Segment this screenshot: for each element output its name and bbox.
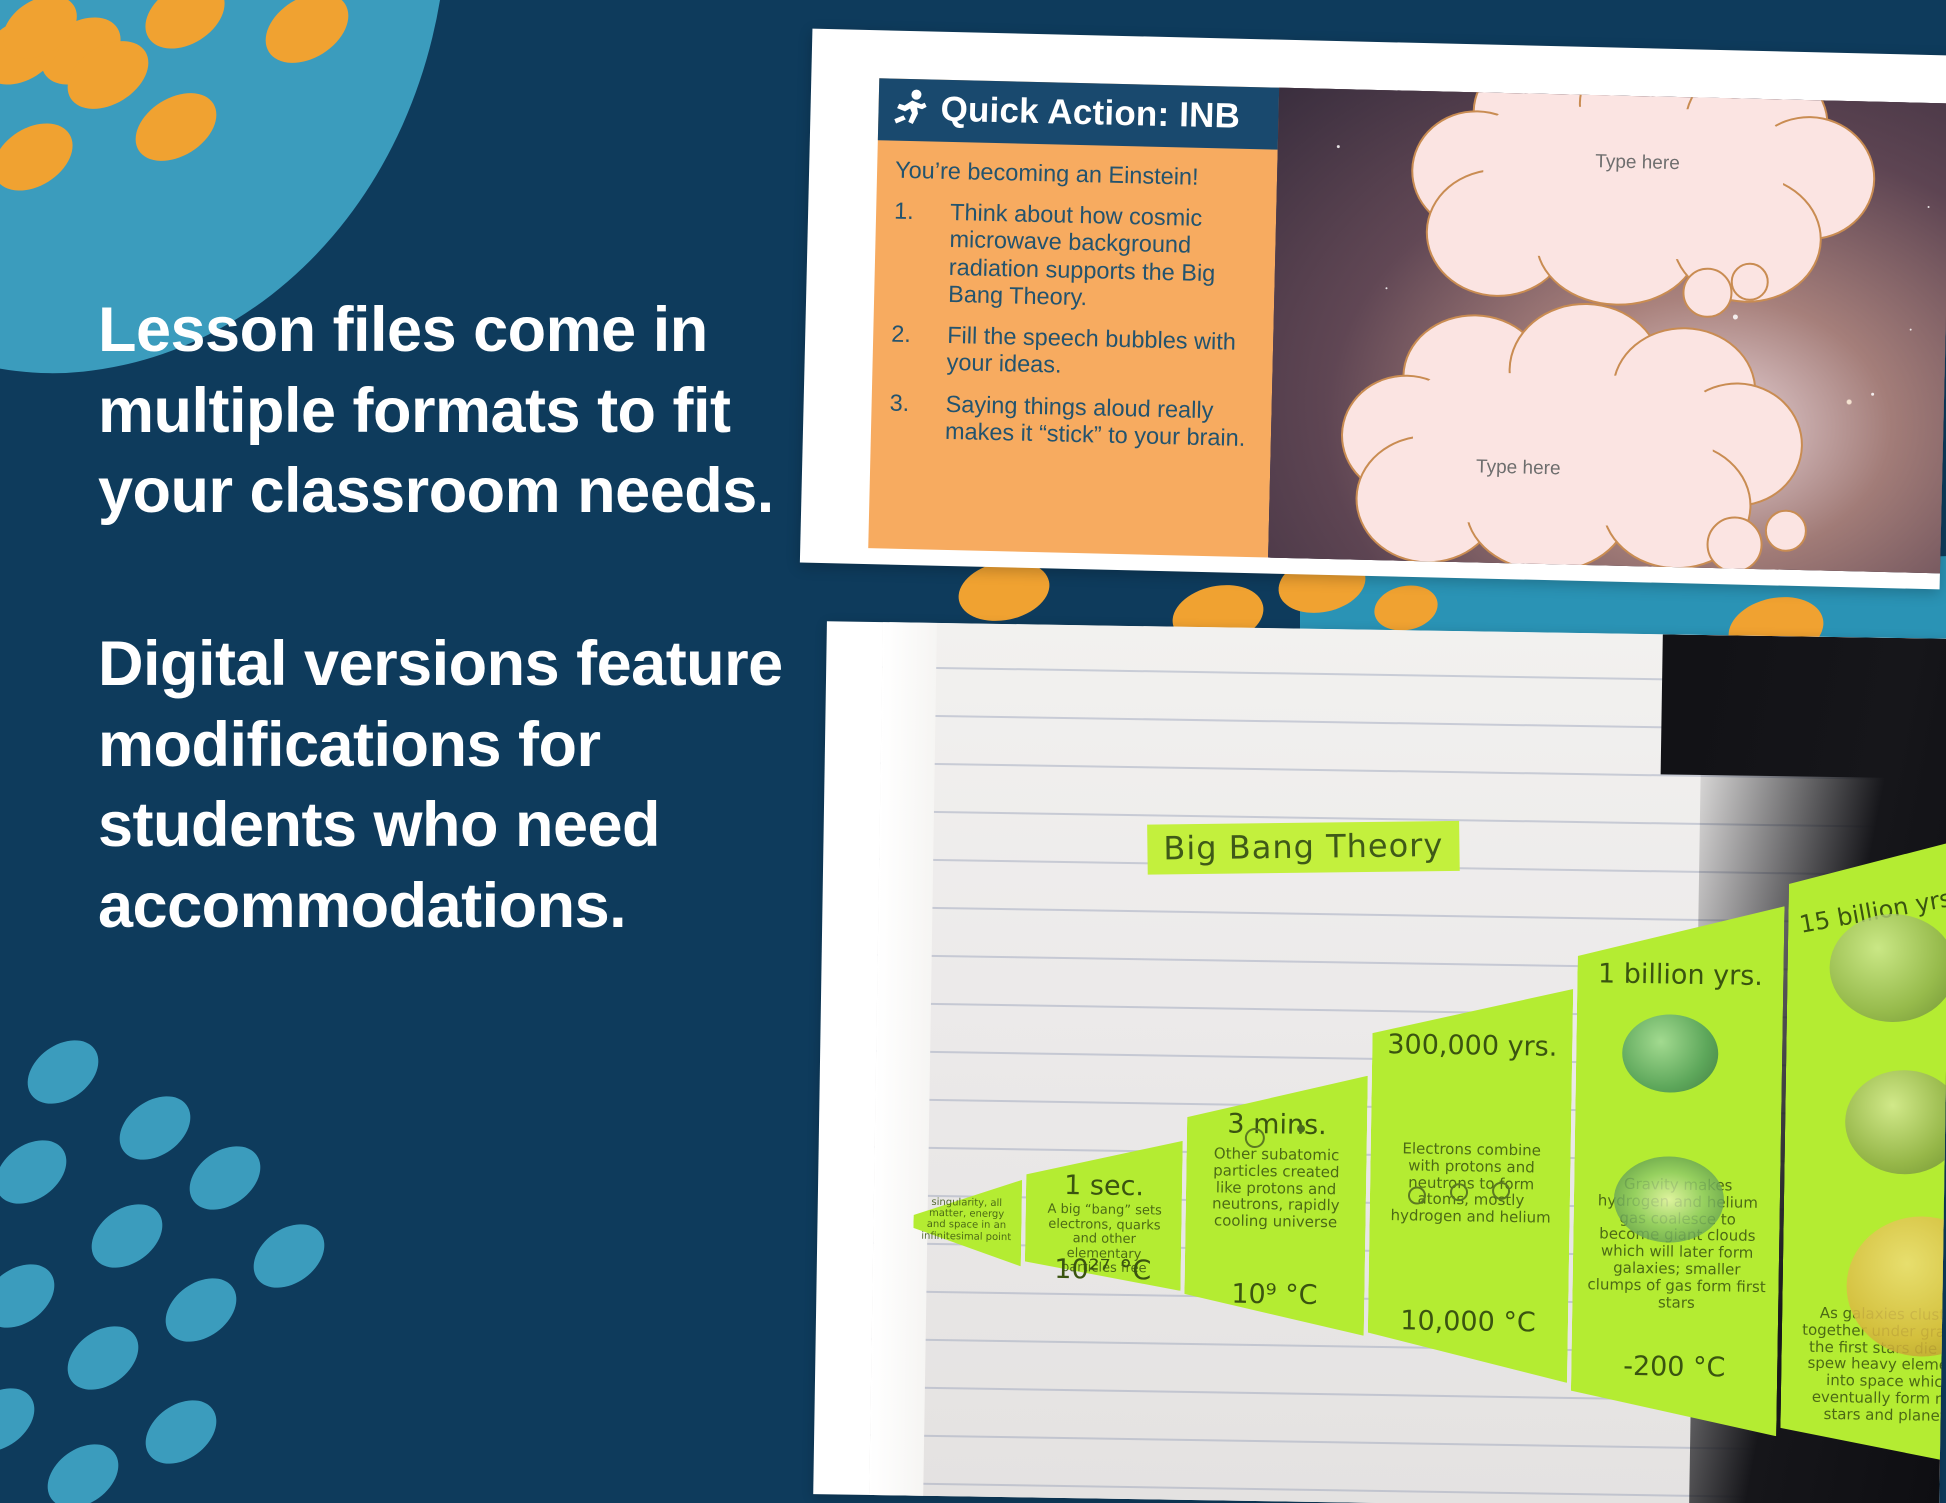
quick-action-body: You’re becoming an Einstein! 1. Think ab… [870, 140, 1278, 476]
quick-action-step: 1. Think about how cosmic microwave back… [892, 198, 1260, 316]
panel-3-time: 300,000 yrs. [1372, 1030, 1572, 1063]
quick-action-panel: Quick Action: INB You’re becoming an Ein… [868, 78, 1279, 557]
headline-copy: Lesson files come in multiple formats to… [98, 290, 818, 946]
headline-paragraph-2: Digital versions feature modifications f… [98, 624, 818, 947]
big-bang-timeline-foldable: singularity, all matter, energy and spac… [910, 883, 1946, 1490]
step-text: Think about how cosmic microwave backgro… [948, 199, 1260, 315]
panel-1-time: 1 sec. [1026, 1170, 1182, 1203]
panel-2-time: 3 mins. [1187, 1109, 1367, 1142]
teal-dot-cluster-bottom-left [0, 1033, 420, 1503]
panel-3-temp: 10,000 °C [1368, 1306, 1568, 1339]
step-number: 2. [890, 321, 937, 377]
bubble-1-placeholder: Type here [1537, 150, 1737, 177]
panel-4-temp: -200 °C [1571, 1351, 1777, 1384]
panel-2-temp: 10⁹ °C [1184, 1279, 1364, 1312]
quick-action-title: Quick Action: INB [940, 90, 1240, 137]
bubble-tail-decoration [1681, 267, 1773, 339]
speech-bubble-2[interactable]: Type here [1320, 311, 1746, 571]
step-text: Fill the speech bubbles with your ideas. [946, 322, 1257, 384]
galaxy-background-image: Type here Type here [1268, 88, 1946, 575]
bubble-2-placeholder: Type here [1418, 455, 1618, 482]
step-number: 1. [892, 198, 941, 308]
quick-action-step-list: 1. Think about how cosmic microwave back… [889, 198, 1261, 453]
headline-paragraph-1: Lesson files come in multiple formats to… [98, 290, 818, 532]
notebook-photo: Big Bang Theory singularity, all matter,… [869, 622, 1946, 1503]
step-text: Saying things aloud really makes it “sti… [945, 390, 1256, 452]
quick-action-lead: You’re becoming an Einstein! [895, 157, 1262, 193]
notebook-photo-card: Big Bang Theory singularity, all matter,… [813, 621, 1946, 1503]
running-person-icon [892, 89, 929, 130]
quick-action-slide-card: Quick Action: INB You’re becoming an Ein… [800, 29, 1946, 590]
step-number: 3. [889, 389, 936, 445]
quick-action-header: Quick Action: INB [878, 78, 1279, 149]
copy-spacer [98, 532, 818, 624]
quick-action-step: 2. Fill the speech bubbles with your ide… [890, 321, 1257, 384]
panel-0-body: singularity, all matter, energy and spac… [919, 1197, 1014, 1243]
big-bang-theory-label: Big Bang Theory [1147, 821, 1459, 875]
slide-content: Quick Action: INB You’re becoming an Ein… [868, 78, 1946, 575]
panel-2-body: Other subatomic particles created like p… [1199, 1145, 1352, 1231]
panel-4-time: 1 billion yrs. [1577, 959, 1783, 992]
slide-canvas: Lesson files come in multiple formats to… [0, 0, 1946, 1503]
quick-action-step: 3. Saying things aloud really makes it “… [889, 389, 1256, 452]
panel-3-body: Electrons combine with protons and neutr… [1384, 1140, 1559, 1227]
panel-1-temp: 10²⁷ °C [1025, 1254, 1181, 1287]
